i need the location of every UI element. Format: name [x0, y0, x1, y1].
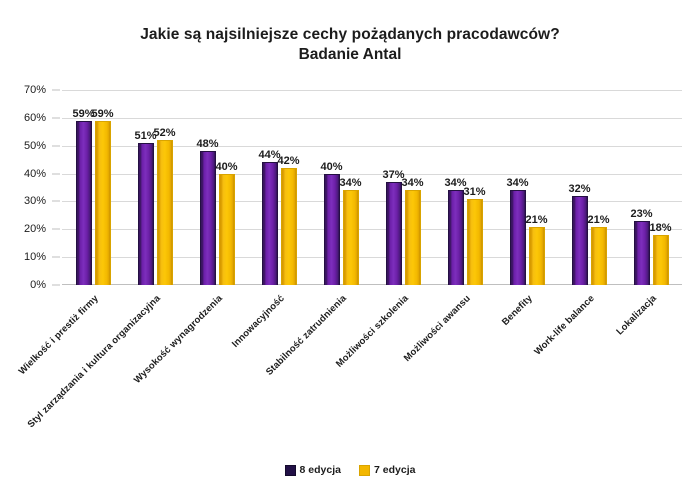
y-axis-tick-label: 30%: [24, 195, 46, 207]
y-axis-tick-mark: [52, 201, 60, 202]
bar-group: 48%40%: [186, 90, 248, 285]
y-axis-tick-label: 60%: [24, 112, 46, 124]
bar-value-label: 34%: [506, 178, 528, 189]
bar-group: 37%34%: [372, 90, 434, 285]
bar-value-label: 34%: [339, 178, 361, 189]
bar-value-label: 18%: [649, 223, 671, 234]
bar[interactable]: 59%: [95, 121, 111, 285]
legend-item[interactable]: 7 edycja: [359, 464, 415, 476]
y-axis: 0%10%20%30%40%50%60%70%: [0, 90, 56, 285]
y-axis-tick-label: 0%: [30, 279, 46, 291]
bar[interactable]: 34%: [448, 190, 464, 285]
bar-group: 51%52%: [124, 90, 186, 285]
legend-item[interactable]: 8 edycja: [285, 464, 341, 476]
x-axis-category-label: Możliwości awansu: [402, 293, 473, 364]
bar[interactable]: 59%: [76, 121, 92, 285]
chart-subtitle: Badanie Antal: [0, 45, 700, 65]
bar[interactable]: 23%: [634, 221, 650, 285]
chart-container: Jakie są najsilniejsze cechy pożądanych …: [0, 0, 700, 501]
legend-label: 8 edycja: [300, 464, 341, 476]
y-axis-tick-mark: [52, 173, 60, 174]
bar-value-label: 32%: [568, 184, 590, 195]
bar-group: 59%59%: [62, 90, 124, 285]
bar[interactable]: 21%: [529, 227, 545, 286]
bar-value-label: 52%: [153, 128, 175, 139]
bar[interactable]: 37%: [386, 182, 402, 285]
bar[interactable]: 42%: [281, 168, 297, 285]
bar[interactable]: 40%: [219, 174, 235, 285]
bar[interactable]: 44%: [262, 162, 278, 285]
x-axis-category-label: Możliwości szkolenia: [334, 293, 411, 370]
y-axis-tick-mark: [52, 90, 60, 91]
bar-value-label: 48%: [196, 139, 218, 150]
chart-legend: 8 edycja7 edycja: [0, 464, 700, 476]
legend-swatch-icon: [285, 465, 296, 476]
bar-value-label: 34%: [401, 178, 423, 189]
y-axis-tick-mark: [52, 117, 60, 118]
bar-value-label: 31%: [463, 187, 485, 198]
y-axis-tick-label: 70%: [24, 84, 46, 96]
y-axis-tick-label: 50%: [24, 140, 46, 152]
bar-group: 34%21%: [496, 90, 558, 285]
bar-groups: 59%59%51%52%48%40%44%42%40%34%37%34%34%3…: [62, 90, 682, 285]
y-axis-tick-label: 20%: [24, 223, 46, 235]
x-axis-category-label: Innowacyjność: [230, 293, 287, 350]
bar-value-label: 59%: [91, 109, 113, 120]
bar-group: 23%18%: [620, 90, 682, 285]
bar[interactable]: 34%: [510, 190, 526, 285]
bar[interactable]: 52%: [157, 140, 173, 285]
bar-value-label: 40%: [215, 162, 237, 173]
bar-value-label: 21%: [525, 215, 547, 226]
bar[interactable]: 51%: [138, 143, 154, 285]
legend-label: 7 edycja: [374, 464, 415, 476]
y-axis-tick-mark: [52, 257, 60, 258]
bar[interactable]: 40%: [324, 174, 340, 285]
bar-group: 44%42%: [248, 90, 310, 285]
bar-value-label: 40%: [320, 162, 342, 173]
chart-title: Jakie są najsilniejsze cechy pożądanych …: [0, 25, 700, 45]
bar[interactable]: 31%: [467, 199, 483, 285]
x-axis-category-label: Lokalizacja: [614, 293, 658, 337]
y-axis-tick-label: 40%: [24, 168, 46, 180]
bar-value-label: 23%: [630, 209, 652, 220]
bar-group: 34%31%: [434, 90, 496, 285]
bar[interactable]: 21%: [591, 227, 607, 286]
bar-group: 40%34%: [310, 90, 372, 285]
y-axis-tick-label: 10%: [24, 251, 46, 263]
bar[interactable]: 32%: [572, 196, 588, 285]
bar-group: 32%21%: [558, 90, 620, 285]
bar[interactable]: 34%: [343, 190, 359, 285]
x-axis-labels: Wielkość i prestiż firmyStyl zarządzania…: [62, 287, 682, 457]
chart-title-block: Jakie są najsilniejsze cechy pożądanych …: [0, 25, 700, 66]
legend-swatch-icon: [359, 465, 370, 476]
bar[interactable]: 34%: [405, 190, 421, 285]
y-axis-tick-mark: [52, 229, 60, 230]
bar[interactable]: 18%: [653, 235, 669, 285]
x-axis-category-label: Styl zarządzania i kultura organizacyjna: [26, 293, 163, 430]
x-axis-category-label: Benefity: [500, 293, 535, 328]
x-axis-category-label: Work-life balance: [532, 293, 596, 357]
bar[interactable]: 48%: [200, 151, 216, 285]
bar-value-label: 21%: [587, 215, 609, 226]
y-axis-tick-mark: [52, 285, 60, 286]
bar-value-label: 42%: [277, 156, 299, 167]
y-axis-tick-mark: [52, 145, 60, 146]
